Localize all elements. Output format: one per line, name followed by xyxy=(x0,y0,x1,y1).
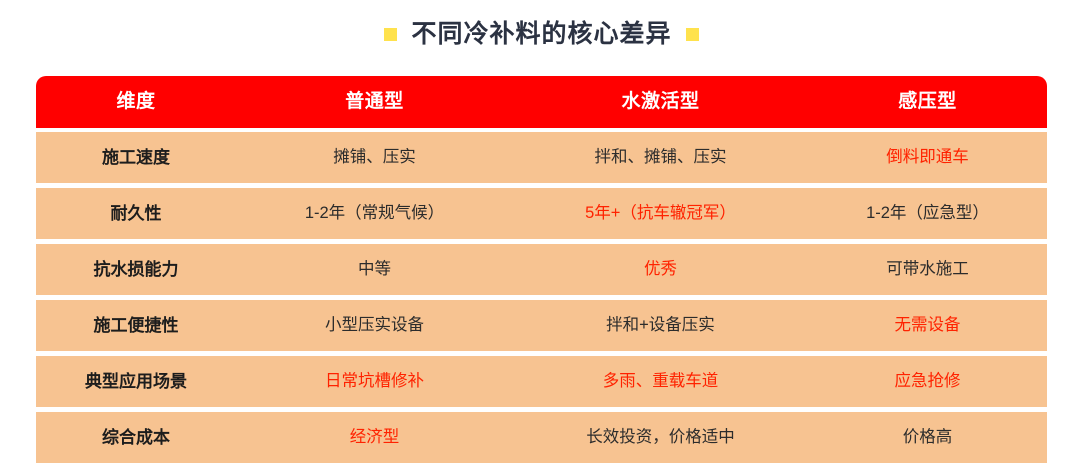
row-label: 施工便捷性 xyxy=(36,300,236,351)
row-cell-ordinary: 日常坑槽修补 xyxy=(236,356,513,407)
row-cell-ordinary: 中等 xyxy=(236,244,513,295)
table-row: 施工便捷性 小型压实设备 拌和+设备压实 无需设备 xyxy=(36,300,1047,351)
column-header-ordinary: 普通型 xyxy=(236,76,513,128)
row-label: 施工速度 xyxy=(36,132,236,183)
table-row: 抗水损能力 中等 优秀 可带水施工 xyxy=(36,244,1047,295)
column-header-dimension: 维度 xyxy=(36,76,236,128)
column-header-pressure-sensitive: 感压型 xyxy=(808,76,1047,128)
row-label: 典型应用场景 xyxy=(36,356,236,407)
table-row: 典型应用场景 日常坑槽修补 多雨、重载车道 应急抢修 xyxy=(36,356,1047,407)
table-row: 综合成本 经济型 长效投资，价格适中 价格高 xyxy=(36,412,1047,463)
row-label: 综合成本 xyxy=(36,412,236,463)
row-cell-ordinary: 摊铺、压实 xyxy=(236,132,513,183)
row-cell-water-activated: 5年+（抗车辙冠军） xyxy=(513,188,808,239)
comparison-table: 维度 普通型 水激活型 感压型 施工速度 摊铺、压实 拌和、摊铺、压实 倒料即通… xyxy=(36,76,1047,463)
row-cell-ordinary: 1-2年（常规气候） xyxy=(236,188,513,239)
row-cell-pressure-sensitive: 1-2年（应急型） xyxy=(808,188,1047,239)
row-cell-water-activated: 拌和、摊铺、压实 xyxy=(513,132,808,183)
row-cell-ordinary: 小型压实设备 xyxy=(236,300,513,351)
row-cell-pressure-sensitive: 无需设备 xyxy=(808,300,1047,351)
row-cell-pressure-sensitive: 倒料即通车 xyxy=(808,132,1047,183)
row-cell-ordinary: 经济型 xyxy=(236,412,513,463)
table-row: 施工速度 摊铺、压实 拌和、摊铺、压实 倒料即通车 xyxy=(36,132,1047,183)
square-decoration-right-icon xyxy=(686,28,699,41)
column-header-water-activated: 水激活型 xyxy=(513,76,808,128)
table-row: 耐久性 1-2年（常规气候） 5年+（抗车辙冠军） 1-2年（应急型） xyxy=(36,188,1047,239)
comparison-table-page: 不同冷补料的核心差异 维度 普通型 水激活型 感压型 施工速度 摊铺、压实 拌和… xyxy=(0,0,1083,469)
row-cell-water-activated: 长效投资，价格适中 xyxy=(513,412,808,463)
page-title-text: 不同冷补料的核心差异 xyxy=(411,22,671,47)
row-cell-pressure-sensitive: 应急抢修 xyxy=(808,356,1047,407)
row-cell-water-activated: 多雨、重载车道 xyxy=(513,356,808,407)
row-label: 抗水损能力 xyxy=(36,244,236,295)
row-cell-water-activated: 拌和+设备压实 xyxy=(513,300,808,351)
row-cell-water-activated: 优秀 xyxy=(513,244,808,295)
row-cell-pressure-sensitive: 价格高 xyxy=(808,412,1047,463)
row-cell-pressure-sensitive: 可带水施工 xyxy=(808,244,1047,295)
page-title: 不同冷补料的核心差异 xyxy=(0,0,1083,62)
table-header-row: 维度 普通型 水激活型 感压型 xyxy=(36,76,1047,128)
row-label: 耐久性 xyxy=(36,188,236,239)
square-decoration-left-icon xyxy=(384,28,397,41)
